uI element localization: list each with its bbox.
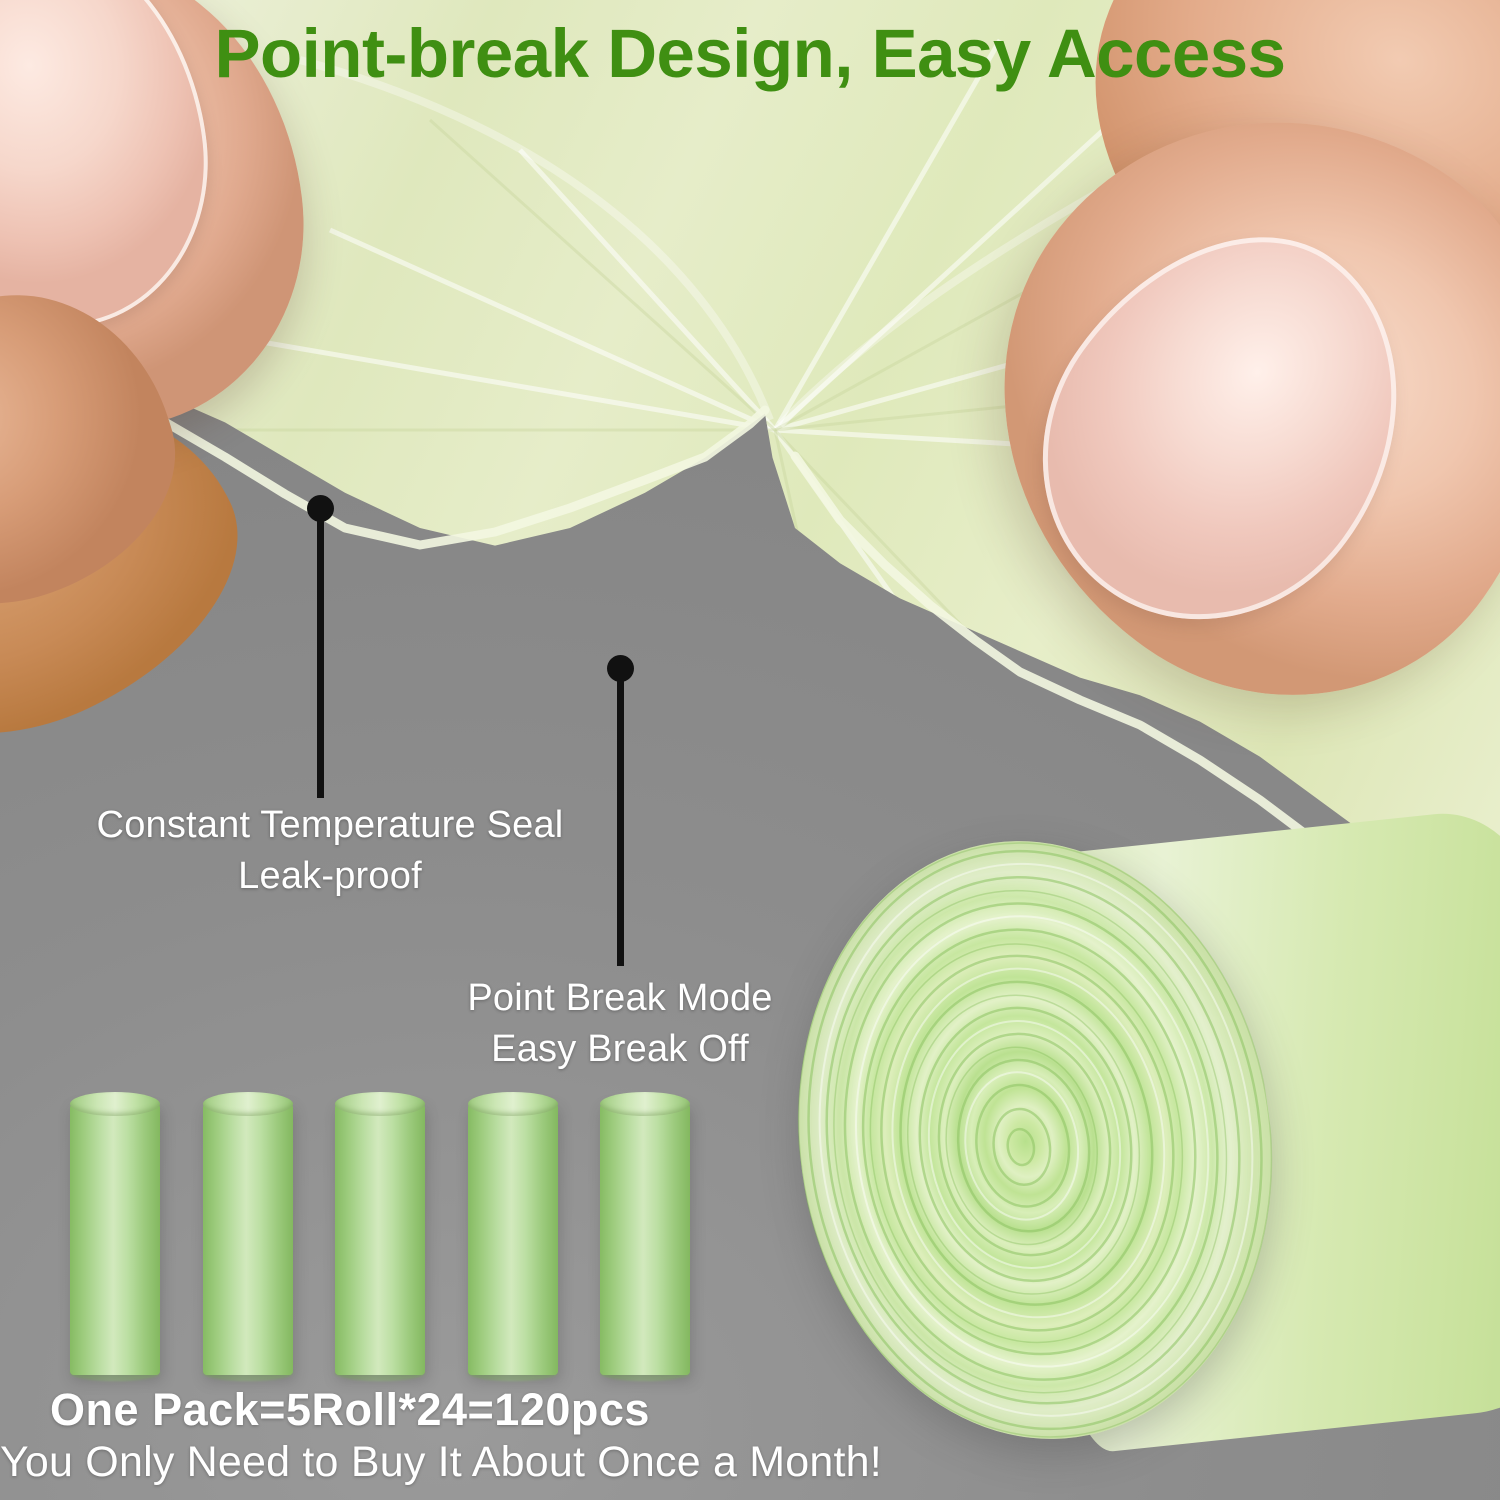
large-roll-ring-lines [761,810,1310,1470]
callout-label-point-break: Point Break Mode Easy Break Off [360,973,880,1074]
product-infographic: Constant Temperature Seal Leak-proof Poi… [0,0,1500,1500]
roll-item [600,1090,690,1375]
callout-seal-line2: Leak-proof [40,851,620,902]
callout-label-seal: Constant Temperature Seal Leak-proof [40,800,620,901]
pack-quantity-text: One Pack=5Roll*24=120pcs [0,1384,700,1436]
five-roll-group [70,1090,690,1380]
callout-leader-point-break [617,668,624,966]
large-bag-roll [790,840,1500,1500]
callout-break-line1: Point Break Mode [360,973,880,1024]
page-title: Point-break Design, Easy Access [0,14,1500,93]
roll-item [203,1090,293,1375]
callout-break-line2: Easy Break Off [360,1024,880,1075]
pack-frequency-text: You Only Need to Buy It About Once a Mon… [0,1438,760,1487]
roll-item [70,1090,160,1375]
roll-item [468,1090,558,1375]
roll-item [335,1090,425,1375]
callout-seal-line1: Constant Temperature Seal [40,800,620,851]
callout-leader-seal [317,508,324,798]
